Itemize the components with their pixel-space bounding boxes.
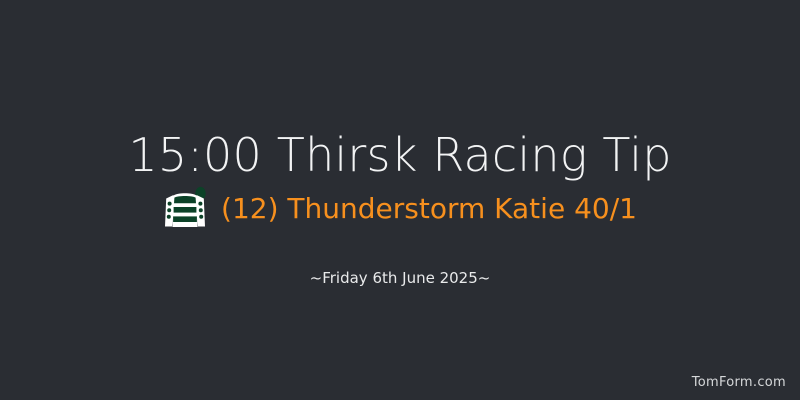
racing-tip-card: 15:00 Thirsk Racing Tip	[0, 0, 800, 400]
tip-row: (12) Thunderstorm Katie 40/1	[0, 186, 800, 236]
jockey-silks-icon	[163, 186, 207, 232]
page-title: 15:00 Thirsk Racing Tip	[128, 127, 671, 183]
tip-selection-text: (12) Thunderstorm Katie 40/1	[221, 192, 637, 226]
jockey-silks-svg	[163, 186, 207, 232]
tip-inner: (12) Thunderstorm Katie 40/1	[163, 186, 637, 232]
race-date: ~Friday 6th June 2025~	[310, 269, 491, 287]
date-row: ~Friday 6th June 2025~	[0, 268, 800, 288]
site-watermark: TomForm.com	[692, 374, 786, 392]
